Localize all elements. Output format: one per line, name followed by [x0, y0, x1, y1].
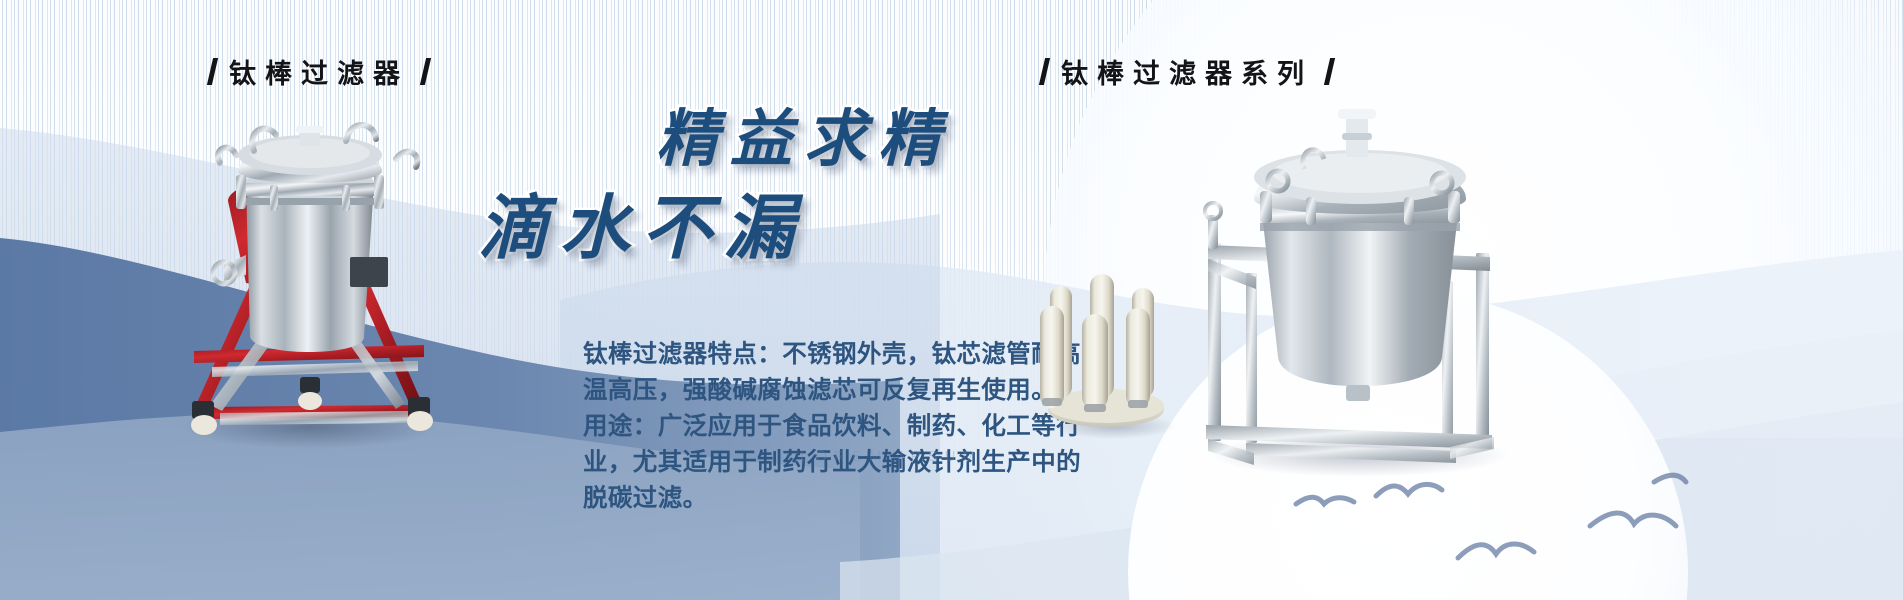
- bird-silhouettes: [1290, 470, 1750, 590]
- watermark-text: LOREM IPSUM: [800, 448, 982, 465]
- eyebrow-title-right: 钛棒过滤器系列: [1042, 52, 1332, 91]
- headline-line-2: 滴水不漏: [478, 172, 806, 273]
- body-copy-line-3: 用途：广泛应用于食品饮料、制药、化工等行: [583, 409, 1103, 445]
- product-image-left: [150, 105, 470, 450]
- product-image-right: [1150, 95, 1550, 485]
- body-copy: 钛棒过滤器特点：不锈钢外壳，钛芯滤管耐高 温高压，强酸碱腐蚀滤芯可反复再生使用。…: [583, 337, 1103, 517]
- eyebrow-right-label: 钛棒过滤器系列: [1061, 52, 1313, 91]
- body-copy-line-5: 脱碳过滤。: [583, 481, 1103, 517]
- headline-line-1: 精益求精: [656, 88, 952, 178]
- product-image-filter-rods: [1030, 258, 1190, 438]
- filter-rod: [1040, 306, 1150, 410]
- eyebrow-left-label: 钛棒过滤器: [229, 52, 409, 91]
- eyebrow-title-left: 钛棒过滤器: [210, 52, 428, 91]
- body-copy-line-1: 钛棒过滤器特点：不锈钢外壳，钛芯滤管耐高: [583, 337, 1103, 373]
- body-copy-line-2: 温高压，强酸碱腐蚀滤芯可反复再生使用。: [583, 373, 1103, 409]
- product-banner: 钛棒过滤器 钛棒过滤器系列 精益求精 滴水不漏 钛棒过滤器特点：不锈钢外壳，钛芯…: [0, 0, 1903, 600]
